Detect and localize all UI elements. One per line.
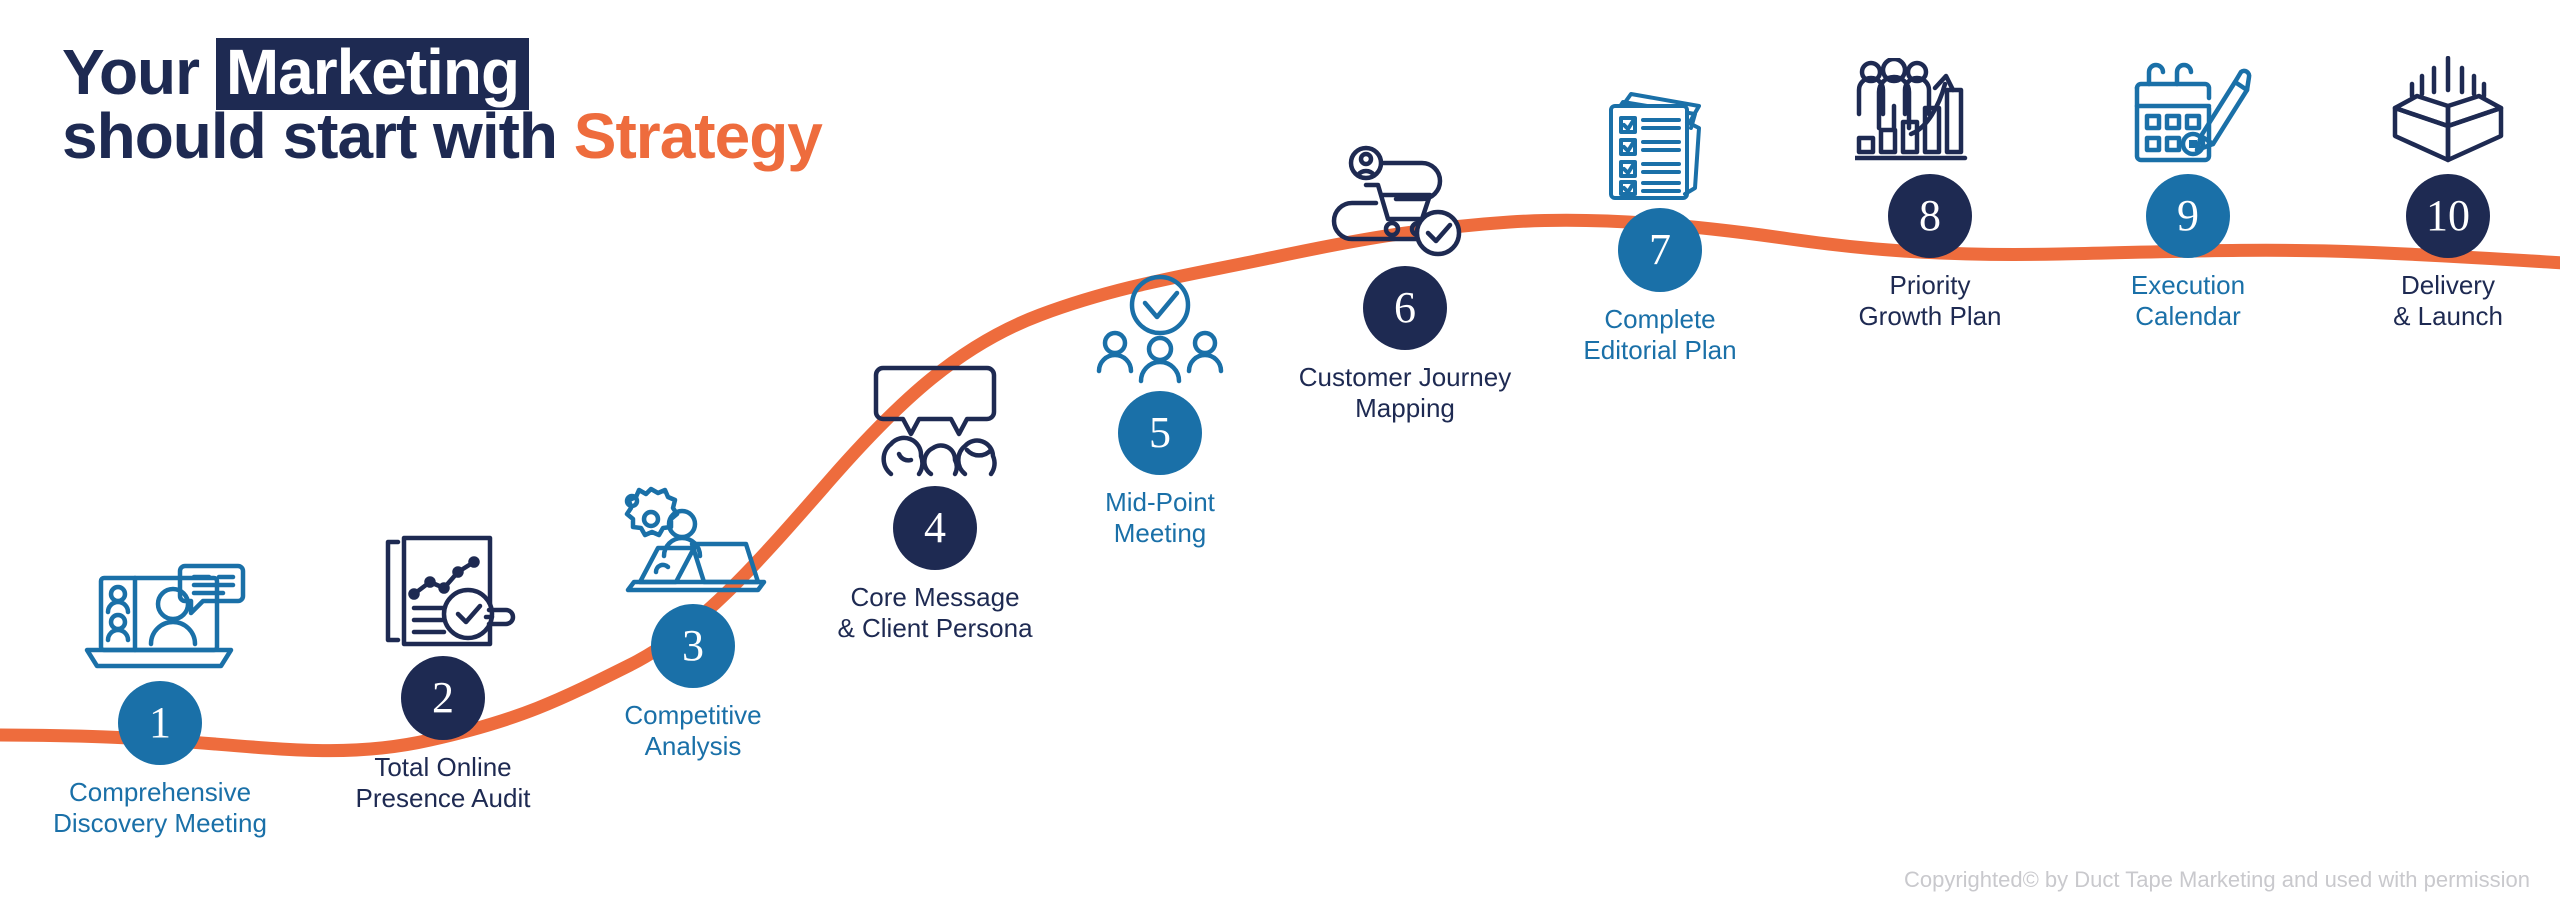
title-phrase-should-start-with: should start with — [62, 100, 574, 172]
step-number-badge[interactable]: 7 — [1618, 208, 1702, 292]
copyright-notice: Copyrighted© by Duct Tape Marketing and … — [1904, 867, 2530, 893]
step-number-badge[interactable]: 4 — [893, 486, 977, 570]
step-number-badge[interactable]: 3 — [651, 604, 735, 688]
roadmap-step-10[interactable]: 10 Delivery & Launch — [2288, 48, 2560, 331]
step-number-badge[interactable]: 6 — [1363, 266, 1447, 350]
title-word-strategy: Strategy — [574, 100, 822, 172]
step-label: Comprehensive Discovery Meeting — [0, 777, 320, 838]
step-number-badge[interactable]: 5 — [1118, 391, 1202, 475]
step-label: Core Message & Client Persona — [775, 582, 1095, 643]
step-label: Customer Journey Mapping — [1245, 362, 1565, 423]
step-number-badge[interactable]: 2 — [401, 656, 485, 740]
step-label: Mid-Point Meeting — [1000, 487, 1320, 548]
step-number-badge[interactable]: 1 — [118, 681, 202, 765]
page-title: Your Marketing should start with Strateg… — [62, 38, 822, 170]
roadmap-step-1[interactable]: 1 Comprehensive Discovery Meeting — [0, 555, 320, 838]
step-label: Competitive Analysis — [533, 700, 853, 761]
step-number-badge[interactable]: 10 — [2406, 174, 2490, 258]
step-number-badge[interactable]: 9 — [2146, 174, 2230, 258]
infographic-canvas: Your Marketing should start with Strateg… — [0, 0, 2560, 909]
title-word-your: Your — [62, 36, 216, 108]
open-box-launch-icon — [2288, 48, 2560, 168]
title-line-2: should start with Strategy — [62, 104, 822, 170]
video-call-meeting-icon — [0, 555, 320, 675]
step-number-badge[interactable]: 8 — [1888, 174, 1972, 258]
title-line-1: Your Marketing — [62, 38, 822, 104]
step-label: Delivery & Launch — [2288, 270, 2560, 331]
